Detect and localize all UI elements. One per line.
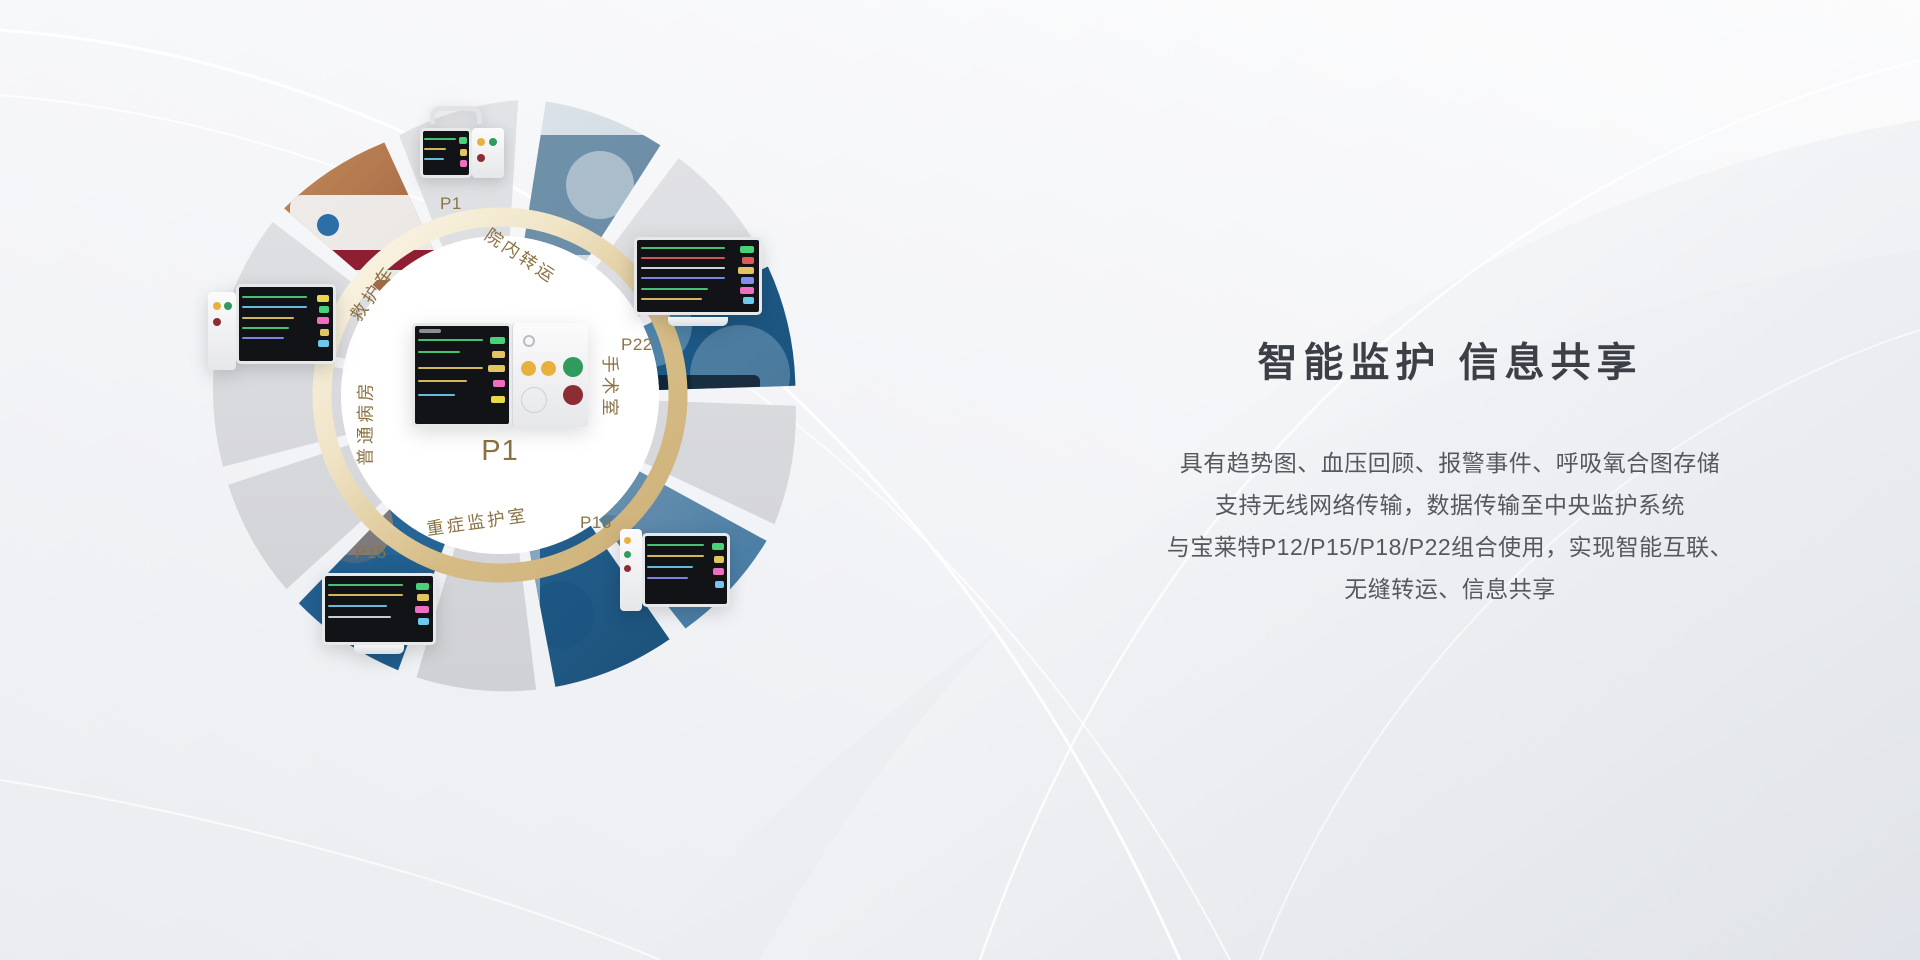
product-label-p18: P18 bbox=[580, 513, 612, 533]
ring-label-operating-room: 手术室 bbox=[598, 355, 623, 420]
body-line-1: 具有趋势图、血压回顾、报警事件、呼吸氧合图存储 bbox=[1050, 442, 1850, 484]
body-line-2: 支持无线网络传输，数据传输至中央监护系统 bbox=[1050, 484, 1850, 526]
product-tile-p15[interactable]: P15 bbox=[300, 535, 470, 665]
p22-monitor-icon bbox=[634, 237, 762, 323]
ring-label-general-ward: 普通病房 bbox=[353, 380, 378, 466]
p1-monitor-illustration bbox=[412, 323, 588, 427]
copy-block: 智能监护 信息共享 具有趋势图、血压回顾、报警事件、呼吸氧合图存储 支持无线网络… bbox=[1050, 330, 1850, 610]
product-tile-p18[interactable]: P18 bbox=[580, 523, 740, 653]
body-line-3: 与宝莱特P12/P15/P18/P22组合使用，实现智能互联、 bbox=[1050, 526, 1850, 568]
p1-tile-monitor-icon bbox=[420, 114, 504, 182]
body-line-4: 无缝转运、信息共享 bbox=[1050, 568, 1850, 610]
p12-monitor-icon bbox=[208, 284, 338, 376]
capability-wheel: P1 院内转运 手术室 重症监护室 普通病房 救护车 P1 bbox=[180, 75, 820, 715]
product-tile-p12[interactable] bbox=[186, 280, 356, 420]
p18-monitor-icon bbox=[620, 529, 730, 611]
product-tile-p1[interactable]: P1 bbox=[398, 110, 518, 225]
product-label-p15: P15 bbox=[355, 543, 387, 563]
product-label-p1: P1 bbox=[440, 194, 462, 214]
slide-root: { "slide": { "title": "智能监护 信息共享", "body… bbox=[0, 0, 1920, 960]
product-label-p22: P22 bbox=[621, 335, 653, 355]
center-product-label: P1 bbox=[481, 435, 518, 468]
product-tile-p22[interactable]: P22 bbox=[620, 235, 780, 365]
p15-monitor-icon bbox=[322, 573, 436, 655]
page-title: 智能监护 信息共享 bbox=[1050, 330, 1850, 388]
